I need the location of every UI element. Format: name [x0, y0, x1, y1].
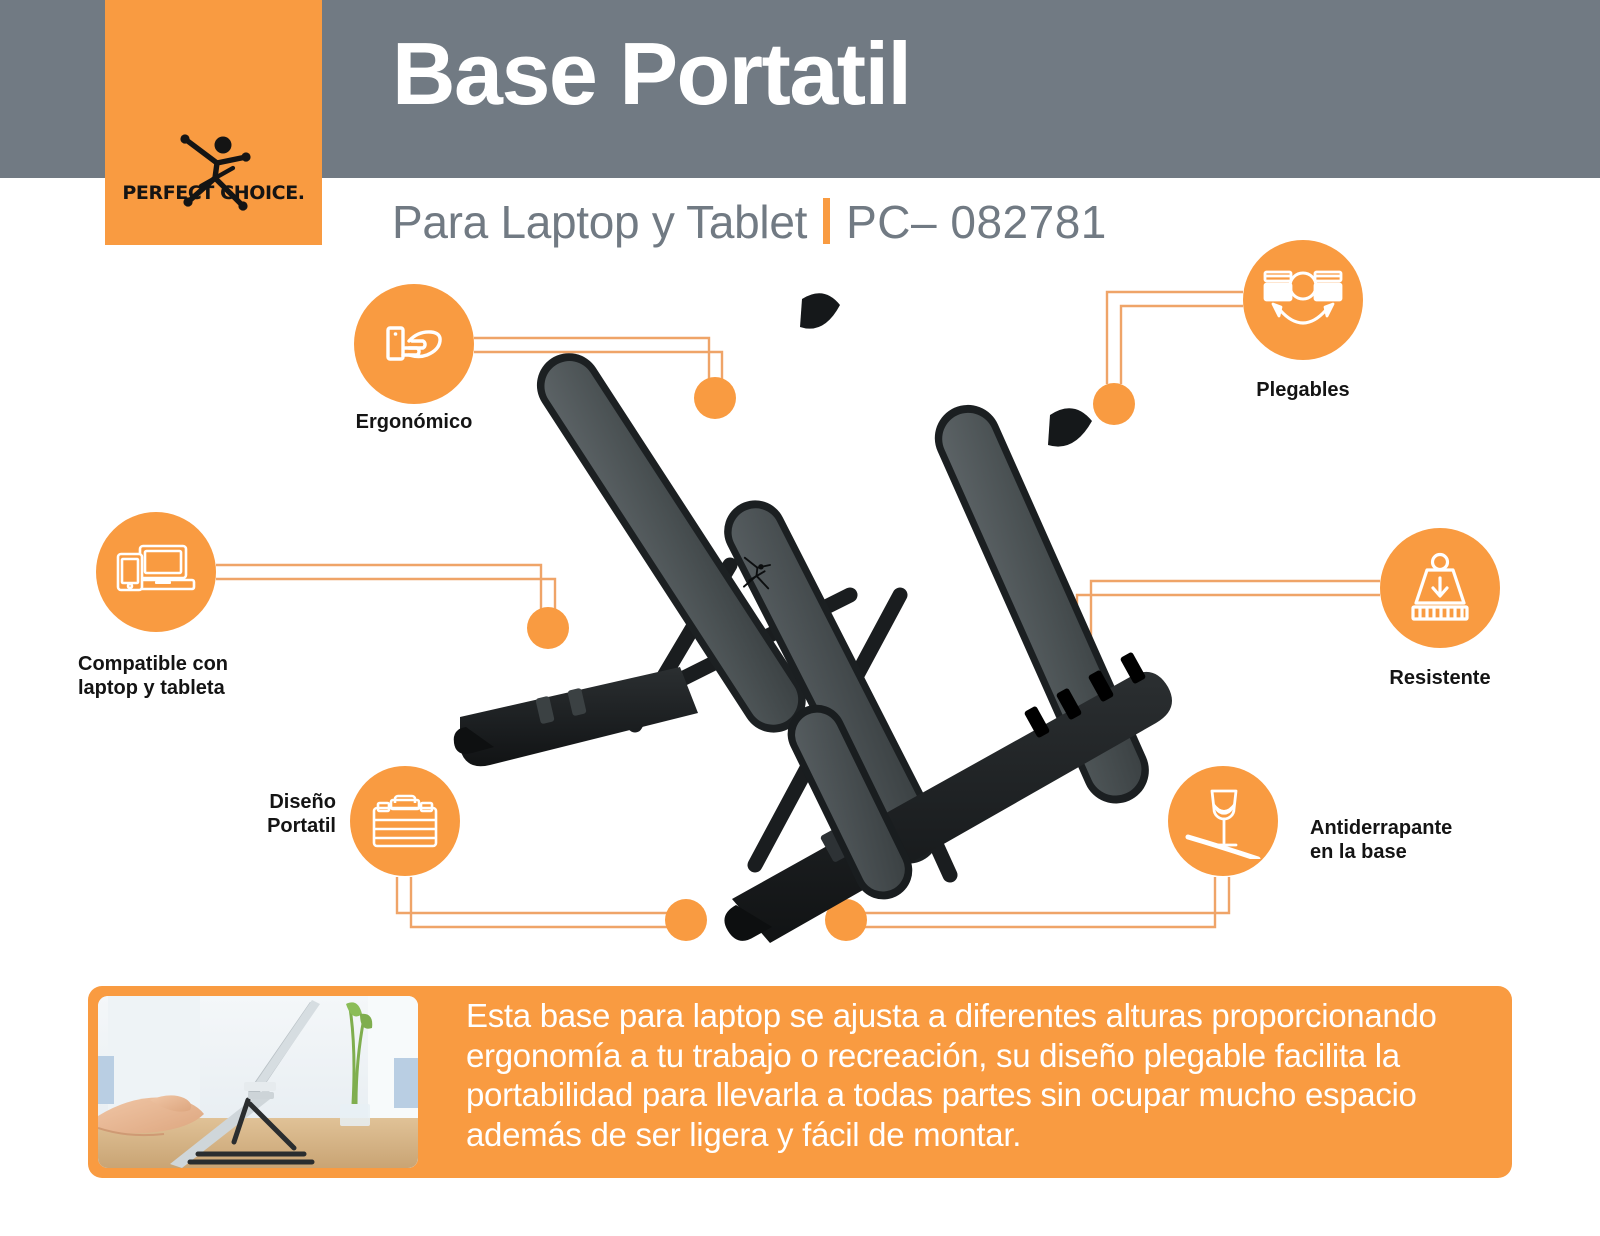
- feature-label-compatible: Compatible con laptop y tableta: [78, 652, 358, 701]
- laptop-stand-product-image: [430, 265, 1190, 945]
- lifestyle-photo: [98, 996, 418, 1168]
- feature-circle-compatible[interactable]: [96, 512, 216, 632]
- feature-circle-antiderrapante[interactable]: [1168, 766, 1278, 876]
- hinge-fold-icon: [1262, 264, 1344, 336]
- briefcase-icon: [369, 791, 441, 851]
- wine-glass-incline-icon: [1184, 783, 1262, 859]
- feature-label-plegables: Plegables: [1213, 378, 1393, 402]
- feature-label-ergonomico: Ergonómico: [324, 410, 504, 434]
- feature-circle-plegables[interactable]: [1243, 240, 1363, 360]
- feature-circle-ergonomico[interactable]: [354, 284, 474, 404]
- laptop-tablet-icon: [114, 540, 198, 604]
- description-text: Esta base para laptop se ajusta a difere…: [466, 996, 1494, 1172]
- hand-icon: [378, 308, 450, 380]
- feature-circle-diseno-portatil[interactable]: [350, 766, 460, 876]
- weight-load-icon: [1403, 551, 1477, 625]
- feature-circle-resistente[interactable]: [1380, 528, 1500, 648]
- feature-label-resistente: Resistente: [1350, 666, 1530, 690]
- feature-label-diseno-portatil: Diseño Portatil: [150, 790, 336, 839]
- feature-label-antiderrapante: Antiderrapante en la base: [1310, 816, 1570, 865]
